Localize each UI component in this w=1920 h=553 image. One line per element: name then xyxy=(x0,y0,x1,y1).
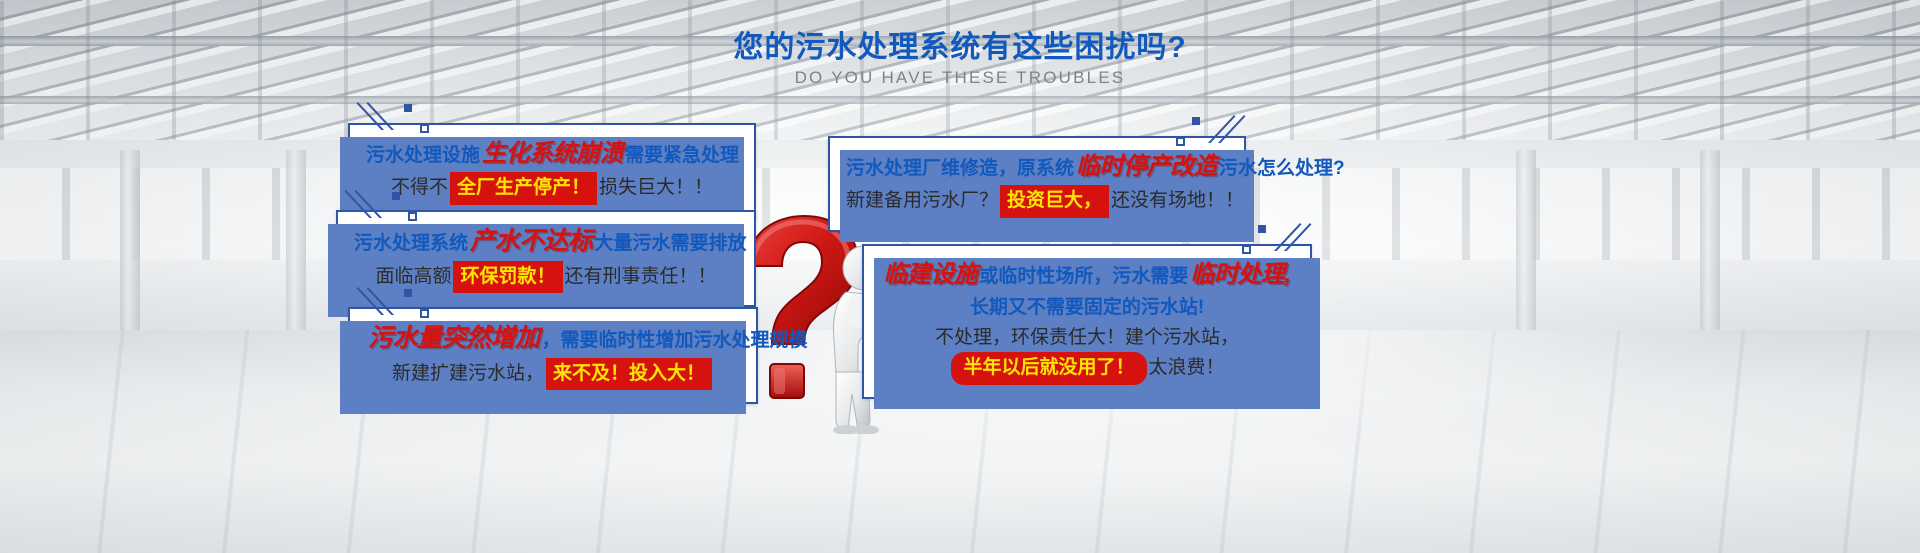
emphasis-red: 产水不达标 xyxy=(468,227,595,255)
text-segment: 长期又不需要固定的污水站! xyxy=(970,297,1204,318)
text-segment: 污水处理设施 xyxy=(366,145,480,166)
callout-card-4: 污水处理厂维修造，原系统临时停产改造污水怎么处理? 新建备用污水厂？投资巨大，还… xyxy=(828,136,1246,232)
text-segment: 污水处理厂维修造，原系统 xyxy=(846,158,1074,179)
card-4-line-1: 污水处理厂维修造，原系统临时停产改造污水怎么处理? xyxy=(846,148,1228,185)
text-segment: 或临时性场所，污水需要 xyxy=(979,266,1188,287)
text-segment: 污水怎么处理? xyxy=(1219,158,1345,179)
text-segment: 污水处理系统 xyxy=(354,233,468,254)
text-segment: 损失巨大！！ xyxy=(599,177,713,198)
highlight-chip: 全厂生产停产！ xyxy=(450,172,597,204)
highlight-chip: 来不及！投入大！ xyxy=(546,358,712,390)
text-segment: 还没有场地！！ xyxy=(1111,190,1244,211)
text-segment: ，需要临时性增加污水处理规模 xyxy=(542,330,808,351)
text-segment: 不得不 xyxy=(391,177,448,198)
text-segment: 面临高额 xyxy=(375,266,451,287)
highlight-chip: 投资巨大， xyxy=(1000,185,1109,217)
text-segment: 新建扩建污水站， xyxy=(392,363,544,384)
text-segment: 大量污水需要排放 xyxy=(595,233,747,254)
highlight-chip: 半年以后就没用了！ xyxy=(951,352,1146,384)
card-2-line-2: 面临高额环保罚款！还有刑事责任！！ xyxy=(354,261,738,293)
card-5-line-1: 临建设施或临时性场所，污水需要临时处理, xyxy=(880,256,1294,293)
card-4-line-2: 新建备用污水厂？投资巨大，还没有场地！！ xyxy=(846,185,1228,217)
card-1-line-2: 不得不全厂生产停产！损失巨大！！ xyxy=(366,172,738,204)
page-title: 您的污水处理系统有这些困扰吗? xyxy=(0,22,1920,66)
card-5-line-3: 不处理，环保责任大！建个污水站， xyxy=(880,323,1294,352)
text-segment: 需要紧急处理 xyxy=(625,145,739,166)
card-2-line-1: 污水处理系统产水不达标大量污水需要排放 xyxy=(354,222,738,261)
callout-card-2: 污水处理系统产水不达标大量污水需要排放 面临高额环保罚款！还有刑事责任！！ xyxy=(336,210,756,307)
callout-card-5: 临建设施或临时性场所，污水需要临时处理, 长期又不需要固定的污水站! 不处理，环… xyxy=(862,244,1312,399)
card-3-line-1: 污水量突然增加，需要临时性增加污水处理规模 xyxy=(366,319,740,358)
text-segment: 不处理，环保责任大！建个污水站， xyxy=(935,327,1239,348)
card-5-line-4: 半年以后就没用了！太浪费！ xyxy=(880,352,1294,384)
emphasis-red: 临时停产改造 xyxy=(1074,153,1219,180)
emphasis-red: 生化系统崩溃 xyxy=(480,140,625,167)
callout-card-1: 污水处理设施生化系统崩溃需要紧急处理 不得不全厂生产停产！损失巨大！！ xyxy=(348,123,756,219)
promo-banner: 您的污水处理系统有这些困扰吗? DO YOU HAVE THESE TROUBL… xyxy=(0,0,1920,553)
card-3-line-2: 新建扩建污水站，来不及！投入大！ xyxy=(366,358,740,390)
page-subtitle: DO YOU HAVE THESE TROUBLES xyxy=(0,68,1920,88)
card-1-line-1: 污水处理设施生化系统崩溃需要紧急处理 xyxy=(366,135,738,172)
emphasis-red: 临时处理, xyxy=(1188,261,1292,288)
text-segment: 新建备用污水厂？ xyxy=(846,190,998,211)
text-segment: 还有刑事责任！！ xyxy=(565,266,717,287)
text-segment: 太浪费！ xyxy=(1149,357,1225,378)
emphasis-red: 污水量突然增加 xyxy=(366,324,542,352)
emphasis-red: 临建设施 xyxy=(881,261,979,288)
highlight-chip: 环保罚款！ xyxy=(453,261,562,293)
callout-card-3: 污水量突然增加，需要临时性增加污水处理规模 新建扩建污水站，来不及！投入大！ xyxy=(348,307,758,404)
card-5-line-2: 长期又不需要固定的污水站! xyxy=(880,293,1294,322)
